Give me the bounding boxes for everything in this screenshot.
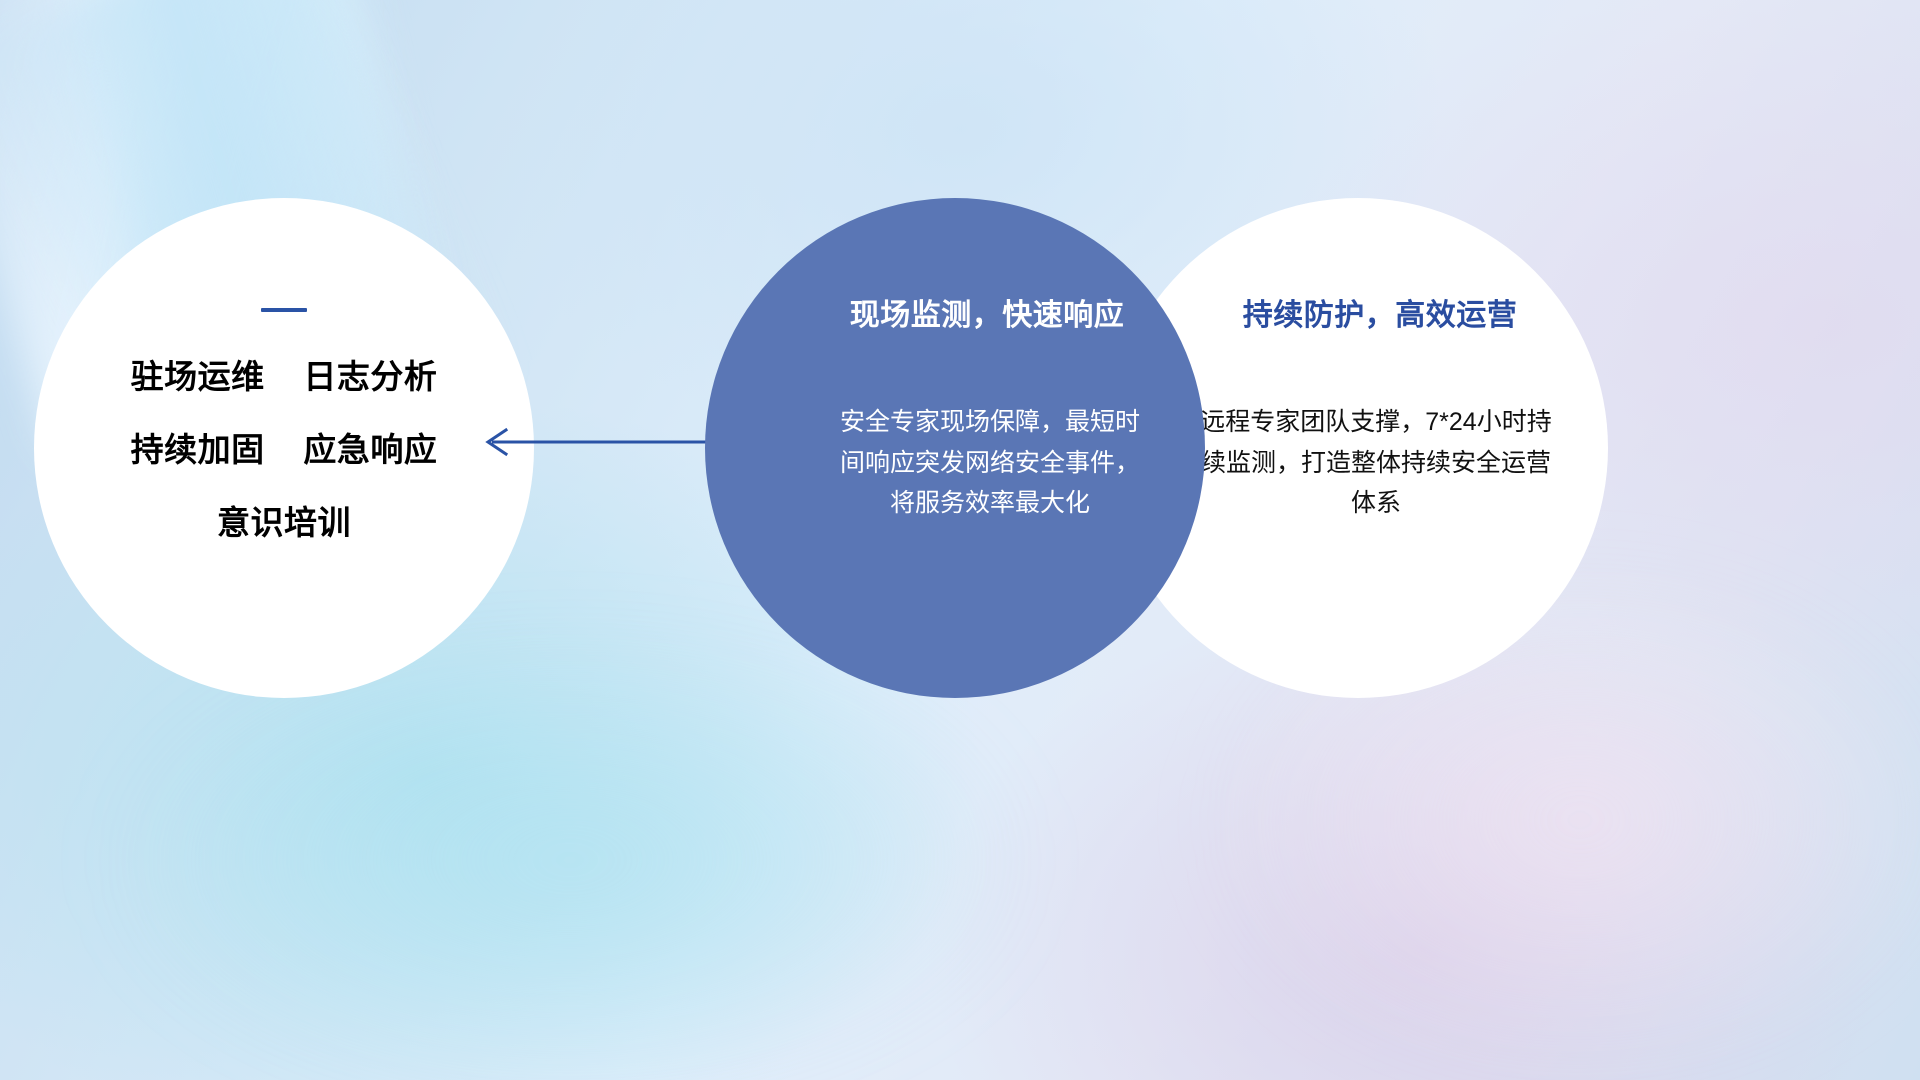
left-service-line-1: 驻场运维 日志分析 [131, 360, 438, 393]
left-circle-content: 驻场运维 日志分析 持续加固 应急响应 意识培训 [34, 198, 534, 698]
left-divider-dash [261, 308, 307, 312]
middle-circle-body: 安全专家现场保障，最短时间响应突发网络安全事件，将服务效率最大化 [840, 402, 1140, 524]
slide-canvas: 驻场运维 日志分析 持续加固 应急响应 意识培训 持续防护，高效运营 远程专家团… [0, 0, 1920, 1080]
right-circle-body: 远程专家团队支撑，7*24小时持续监测，打造整体持续安全运营体系 [1196, 402, 1556, 524]
middle-monitoring-circle: 现场监测，快速响应 安全专家现场保障，最短时间响应突发网络安全事件，将服务效率最… [705, 198, 1205, 698]
background-glow-bottom-left [120, 640, 1020, 1080]
left-service-line-2: 持续加固 应急响应 [131, 433, 438, 466]
left-services-circle: 驻场运维 日志分析 持续加固 应急响应 意识培训 [34, 198, 534, 698]
left-service-line-3: 意识培训 [217, 506, 351, 539]
middle-circle-content: 现场监测，快速响应 安全专家现场保障，最短时间响应突发网络安全事件，将服务效率最… [705, 198, 1205, 698]
right-circle-title: 持续防护，高效运营 [1199, 290, 1518, 334]
middle-circle-title: 现场监测，快速响应 [816, 290, 1125, 334]
